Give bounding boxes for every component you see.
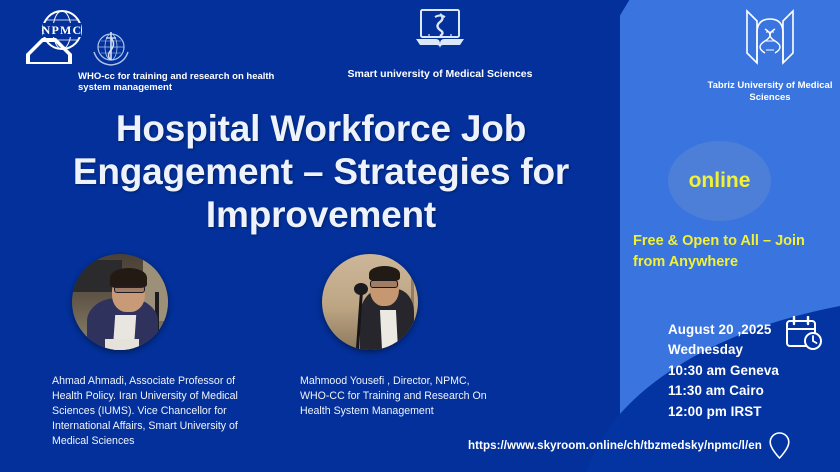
schedule-weekday: Wednesday	[668, 340, 779, 360]
schedule-time-cairo: 11:30 am Cairo	[668, 381, 779, 401]
avatar	[72, 254, 168, 350]
speaker-1	[62, 254, 168, 350]
free-open-text: Free & Open to All – Join from Anywhere	[633, 231, 833, 272]
speaker-2	[312, 254, 418, 350]
svg-text:NPMC: NPMC	[42, 23, 83, 37]
online-badge-label: online	[689, 169, 751, 193]
meeting-link[interactable]: https://www.skyroom.online/ch/tbzmedsky/…	[468, 432, 790, 459]
schedule-date: August 20 ,2025	[668, 320, 779, 340]
npmc-globe-icon: NPMC	[32, 8, 92, 56]
meeting-url-text[interactable]: https://www.skyroom.online/ch/tbzmedsky/…	[468, 439, 762, 452]
calendar-clock-icon	[784, 316, 824, 352]
schedule-time-geneva: 10:30 am Geneva	[668, 361, 779, 381]
online-badge: online	[668, 141, 771, 221]
tabriz-university-logo: Tabriz University of Medical Sciences	[700, 5, 840, 104]
poster-title: Hospital Workforce Job Engagement – Stra…	[36, 108, 606, 237]
speaker-2-bio: Mahmood Yousefi , Director, NPMC, WHO-CC…	[300, 374, 500, 419]
schedule-time-irst: 12:00 pm IRST	[668, 402, 779, 422]
npmc-logo-marks: NPMC	[16, 8, 286, 70]
ahmad-ahmadi-portrait	[72, 254, 168, 350]
location-pin-icon	[769, 432, 790, 459]
avatar	[322, 254, 418, 350]
webinar-poster: NPMC WHO-cc for training and research on…	[0, 0, 840, 472]
tabriz-university-caption: Tabriz University of Medical Sciences	[700, 80, 840, 104]
npmc-who-logo: NPMC WHO-cc for training and research on…	[16, 8, 286, 94]
open-book-dna-icon	[735, 5, 805, 71]
mahmood-yousefi-portrait	[322, 254, 418, 350]
smart-university-caption: Smart university of Medical Sciences	[340, 68, 540, 80]
speaker-1-bio: Ahmad Ahmadi, Associate Professor of Hea…	[52, 374, 257, 449]
who-emblem-icon	[90, 26, 132, 68]
schedule-block: August 20 ,2025 Wednesday 10:30 am Genev…	[668, 320, 779, 422]
laptop-caduceus-icon	[410, 6, 470, 60]
npmc-logo-caption: WHO-cc for training and research on heal…	[78, 72, 278, 94]
smart-university-logo: Smart university of Medical Sciences	[340, 6, 540, 80]
